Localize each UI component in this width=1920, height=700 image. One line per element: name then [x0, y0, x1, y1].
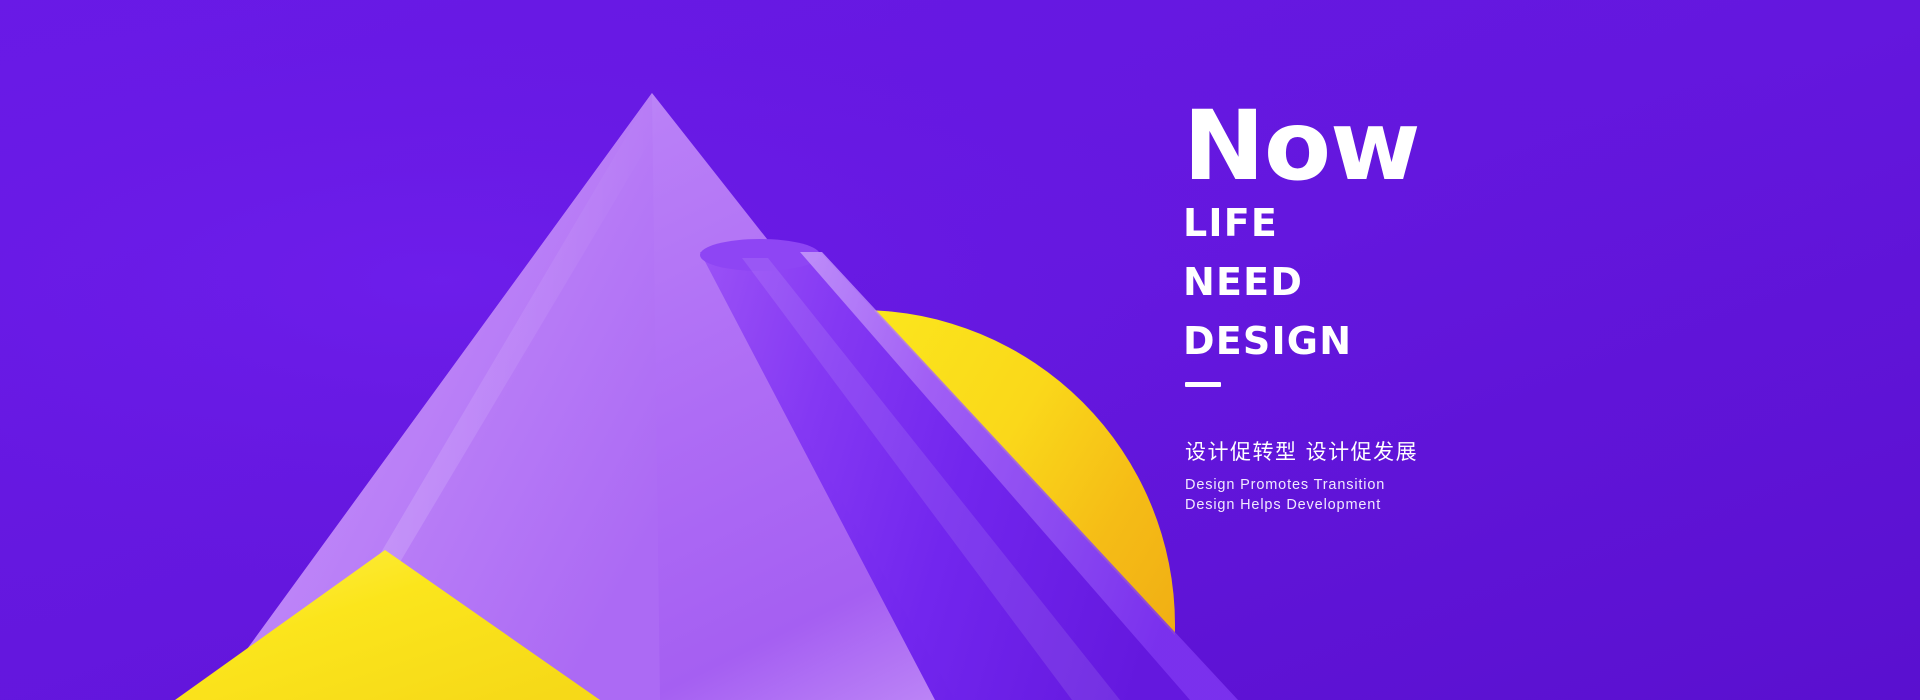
hero-banner: Now LIFE NEED DESIGN 设计促转型 设计促发展 Design … [0, 0, 1920, 700]
headline-line-need: NEED [1183, 261, 1743, 305]
headline-line-design: DESIGN [1183, 320, 1743, 364]
divider-rule [1185, 382, 1221, 387]
headline-line-list: LIFE NEED DESIGN [1183, 202, 1743, 363]
headline-line-life: LIFE [1183, 202, 1743, 246]
headline-block: Now LIFE NEED DESIGN 设计促转型 设计促发展 Design … [1183, 104, 1743, 517]
headline-now: Now [1183, 104, 1754, 188]
subtitle-block: 设计促转型 设计促发展 Design Promotes Transition D… [1183, 439, 1743, 516]
subtitle-english-line-1: Design Promotes Transition [1185, 476, 1743, 496]
subtitle-english-line-2: Design Helps Development [1185, 496, 1743, 516]
subtitle-chinese: 设计促转型 设计促发展 [1185, 439, 1743, 466]
